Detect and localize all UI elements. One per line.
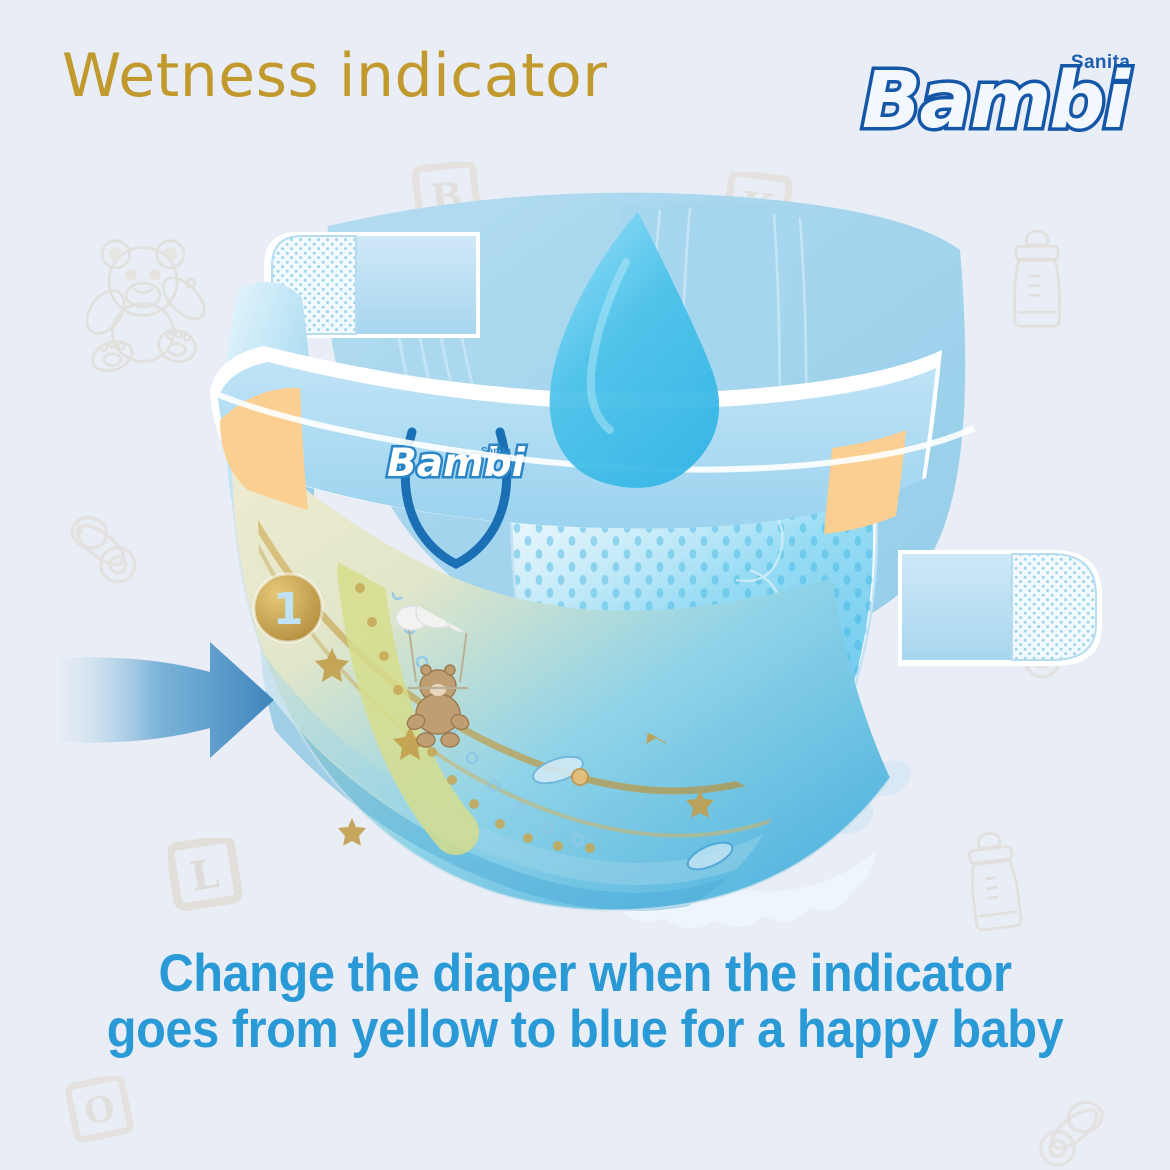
caption-block: Change the diaper when the indicator goe…	[47, 946, 1123, 1058]
pacifier-icon-3	[1028, 1088, 1118, 1170]
caption-line-1: Change the diaper when the indicator	[47, 946, 1123, 1002]
diaper-illustration: 1 Bambi Sanita	[60, 170, 1130, 930]
caption-line-2: goes from yellow to blue for a happy bab…	[47, 1002, 1123, 1058]
brand-name-label: Bambi	[862, 62, 1128, 140]
diaper-tab-right	[898, 550, 1102, 666]
indicator-arrow	[60, 642, 274, 758]
poster-canvas: B K	[0, 0, 1170, 1170]
size-badge-label: 1	[273, 584, 304, 635]
size-badge: 1	[254, 574, 322, 642]
page-title: Wetness indicator	[62, 46, 607, 106]
brand-logo: Sanita. Bambi	[854, 44, 1144, 154]
svg-text:O: O	[81, 1087, 119, 1133]
block-o-icon-2: O	[66, 1076, 136, 1148]
